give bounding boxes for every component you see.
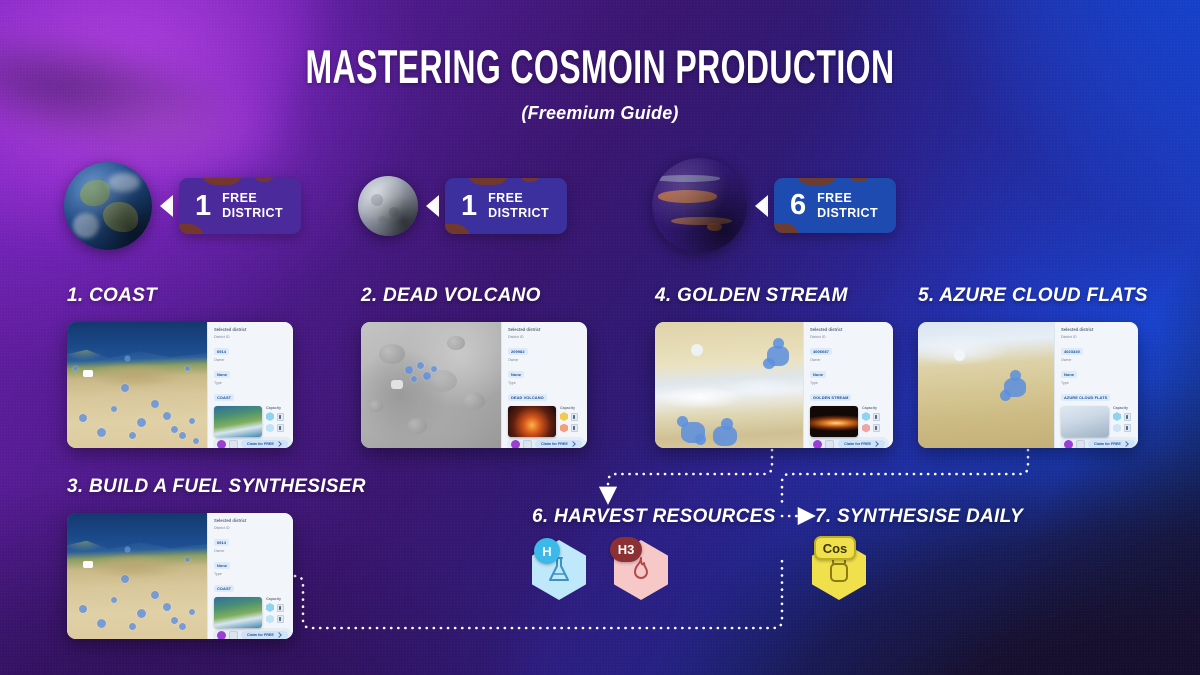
capacity-icon-air (1113, 424, 1121, 433)
planet-group-jupiter: 6 FREE DISTRICT (652, 158, 896, 253)
badge-hydrogen: H (534, 538, 560, 564)
value-type: AZURE CLOUD FLATS (1061, 394, 1110, 402)
label-capacity: Capacity (862, 406, 888, 410)
capacity-icon-energy (266, 615, 274, 624)
chevron-right-icon (1123, 441, 1129, 447)
label-capacity: Capacity (560, 406, 585, 410)
page-subtitle: (Freemium Guide) (0, 103, 1200, 124)
badge-cosmoin: Cos (814, 536, 856, 560)
azure-cloud-flats-panel: Selected district District ID 4023340 Ow… (1054, 322, 1138, 448)
district-preview-image (810, 406, 858, 437)
value-district-id: 4023340 (1061, 348, 1083, 356)
claim-button[interactable]: Claim for FREE (241, 631, 288, 639)
card-footer: Claim for FREE (507, 437, 586, 448)
page-title: MASTERING COSMOIN PRODUCTION (108, 44, 1092, 92)
panel-title: Selected district (810, 327, 888, 332)
value-district-id: 209982 (508, 348, 528, 356)
heading-step-4: 4. GOLDEN STREAM (655, 285, 848, 307)
value-owner: None (1061, 371, 1077, 379)
label-district-id: District ID (508, 335, 585, 339)
label-district-id: District ID (810, 335, 888, 339)
label-type: Type (1061, 381, 1138, 385)
avatar-icon[interactable] (813, 440, 822, 449)
label-owner: Owner (810, 358, 888, 362)
value-district-id: 6914 (214, 539, 229, 547)
capacity-icon-water (266, 603, 274, 612)
label-type: Type (214, 572, 291, 576)
chevron-right-icon (570, 441, 576, 447)
azure-cloud-flats-map[interactable] (918, 322, 1054, 448)
capacity-slot[interactable] (277, 615, 284, 623)
dead-volcano-panel: Selected district District ID 209982 Own… (501, 322, 587, 448)
capacity-slot[interactable] (1124, 424, 1131, 432)
value-type: DEAD VOLCANO (508, 394, 547, 402)
value-owner: None (214, 562, 230, 570)
dead-volcano-map[interactable] (361, 322, 501, 448)
dead-volcano-card[interactable]: Selected district District ID 209982 Own… (361, 322, 587, 448)
claim-button-label: Claim for FREE (844, 442, 871, 446)
capacity-icon-heat (862, 424, 870, 433)
arrow-left-icon-moon (426, 195, 439, 217)
value-district-id: 4006087 (810, 348, 832, 356)
card-footer: Claim for FREE (1060, 437, 1138, 448)
label-district-id: District ID (214, 526, 291, 530)
label-district-id: District ID (214, 335, 291, 339)
district-preview-image (214, 406, 262, 437)
capacity-slot[interactable] (1124, 413, 1131, 421)
capacity-icon-ore (560, 412, 568, 421)
value-type: COAST (214, 394, 234, 402)
badge-label-line2: DISTRICT (488, 206, 549, 221)
badge-label-line2: DISTRICT (817, 206, 878, 221)
badge-jupiter: 6 FREE DISTRICT (774, 178, 896, 234)
badge-earth: 1 FREE DISTRICT (179, 178, 301, 234)
district-preview-image (214, 597, 262, 628)
card-footer: Claim for FREE (213, 628, 292, 639)
value-owner: None (508, 371, 524, 379)
district-preview-image (508, 406, 556, 437)
heading-step-7: 7. SYNTHESISE DAILY (815, 506, 1023, 528)
capacity-icon-energy (266, 424, 274, 433)
claim-button-label: Claim for FREE (247, 442, 274, 446)
heading-step-5: 5. AZURE CLOUD FLATS (918, 285, 1148, 307)
label-owner: Owner (214, 549, 291, 553)
avatar-icon[interactable] (217, 440, 226, 449)
claim-button[interactable]: Claim for FREE (241, 440, 288, 448)
label-district-id: District ID (1061, 335, 1138, 339)
resource-hydrogen[interactable]: H (532, 540, 586, 600)
claim-button-label: Claim for FREE (1094, 442, 1121, 446)
chevron-right-icon (276, 632, 282, 638)
claim-button-label: Claim for FREE (247, 633, 274, 637)
chevron-right-icon (873, 441, 879, 447)
badge-label-moon: FREE DISTRICT (488, 191, 549, 221)
panel-title: Selected district (214, 518, 291, 523)
info-icon[interactable] (523, 440, 532, 449)
panel-title: Selected district (214, 327, 291, 332)
info-icon[interactable] (229, 631, 238, 640)
value-type: COAST (214, 585, 234, 593)
capacity-icon-heat (560, 424, 568, 433)
label-type: Type (508, 381, 585, 385)
label-type: Type (214, 381, 291, 385)
info-icon[interactable] (825, 440, 834, 449)
card-footer: Claim for FREE (809, 437, 889, 448)
avatar-icon[interactable] (1064, 440, 1073, 449)
planet-group-moon: 1 FREE DISTRICT (358, 176, 567, 236)
capacity-slot[interactable] (277, 604, 284, 612)
coast-map[interactable] (67, 322, 207, 448)
card-footer: Claim for FREE (213, 437, 292, 448)
badge-count-earth: 1 (195, 192, 211, 221)
claim-button[interactable]: Claim for FREE (535, 440, 582, 448)
golden-stream-panel: Selected district District ID 4006087 Ow… (803, 322, 893, 448)
panel-title: Selected district (508, 327, 585, 332)
panel-title: Selected district (1061, 327, 1138, 332)
capacity-slot[interactable] (873, 413, 880, 421)
capacity-icon-water (266, 412, 274, 421)
district-preview-image (1061, 406, 1109, 437)
badge-label-line1: FREE (488, 191, 549, 206)
value-type: GOLDEN STREAM (810, 394, 851, 402)
claim-button[interactable]: Claim for FREE (838, 440, 885, 448)
heading-step-2: 2. DEAD VOLCANO (361, 285, 541, 307)
badge-label-earth: FREE DISTRICT (222, 191, 283, 221)
badge-count-moon: 1 (461, 192, 477, 221)
badge-label-line1: FREE (817, 191, 878, 206)
resource-cosmoin[interactable]: Cos (812, 540, 866, 600)
resource-helium3[interactable]: H3 (614, 540, 668, 600)
avatar-icon[interactable] (511, 440, 520, 449)
badge-count-jupiter: 6 (790, 191, 806, 220)
label-capacity: Capacity (266, 597, 291, 601)
label-capacity: Capacity (266, 406, 291, 410)
label-owner: Owner (1061, 358, 1138, 362)
value-owner: None (810, 371, 826, 379)
capacity-slot[interactable] (277, 424, 284, 432)
avatar-icon[interactable] (217, 631, 226, 640)
jupiter-icon (652, 158, 747, 253)
moon-icon (358, 176, 418, 236)
value-district-id: 6914 (214, 348, 229, 356)
label-type: Type (810, 381, 888, 385)
info-icon[interactable] (229, 440, 238, 449)
capacity-icon-gas (1113, 412, 1121, 421)
claim-button-label: Claim for FREE (541, 442, 568, 446)
capacity-slot[interactable] (873, 424, 880, 432)
capacity-icon-gas (862, 412, 870, 421)
arrow-left-icon-earth (160, 195, 173, 217)
value-owner: None (214, 371, 230, 379)
earth-icon (64, 162, 152, 250)
heading-step-1: 1. COAST (67, 285, 157, 307)
heading-step-3: 3. BUILD A FUEL SYNTHESISER (67, 476, 366, 498)
badge-label-line1: FREE (222, 191, 283, 206)
label-owner: Owner (214, 358, 291, 362)
fuel-synthesiser-card[interactable]: Selected district District ID 6914 Owner… (67, 513, 293, 639)
badge-label-line2: DISTRICT (222, 206, 283, 221)
coast-panel: Selected district District ID 6914 Owner… (207, 322, 293, 448)
azure-cloud-flats-card[interactable]: Selected district District ID 4023340 Ow… (918, 322, 1138, 448)
capacity-slot[interactable] (277, 413, 284, 421)
label-capacity: Capacity (1113, 406, 1138, 410)
label-owner: Owner (508, 358, 585, 362)
info-icon[interactable] (1076, 440, 1085, 449)
planet-group-earth: 1 FREE DISTRICT (64, 162, 301, 250)
capacity-slot[interactable] (571, 424, 578, 432)
fuel-synthesiser-panel: Selected district District ID 6914 Owner… (207, 513, 293, 639)
chevron-right-icon (276, 441, 282, 447)
badge-label-jupiter: FREE DISTRICT (817, 191, 878, 221)
capacity-slot[interactable] (571, 413, 578, 421)
golden-stream-map[interactable] (655, 322, 803, 448)
badge-moon: 1 FREE DISTRICT (445, 178, 567, 234)
fuel-synthesiser-map[interactable] (67, 513, 207, 639)
golden-stream-card[interactable]: Selected district District ID 4006087 Ow… (655, 322, 893, 448)
heading-step-6: 6. HARVEST RESOURCES (532, 506, 776, 528)
coast-card[interactable]: Selected district District ID 6914 Owner… (67, 322, 293, 448)
header: MASTERING COSMOIN PRODUCTION (Freemium G… (0, 0, 1200, 124)
arrow-left-icon-jupiter (755, 195, 768, 217)
claim-button[interactable]: Claim for FREE (1088, 440, 1135, 448)
badge-helium3: H3 (610, 537, 642, 562)
